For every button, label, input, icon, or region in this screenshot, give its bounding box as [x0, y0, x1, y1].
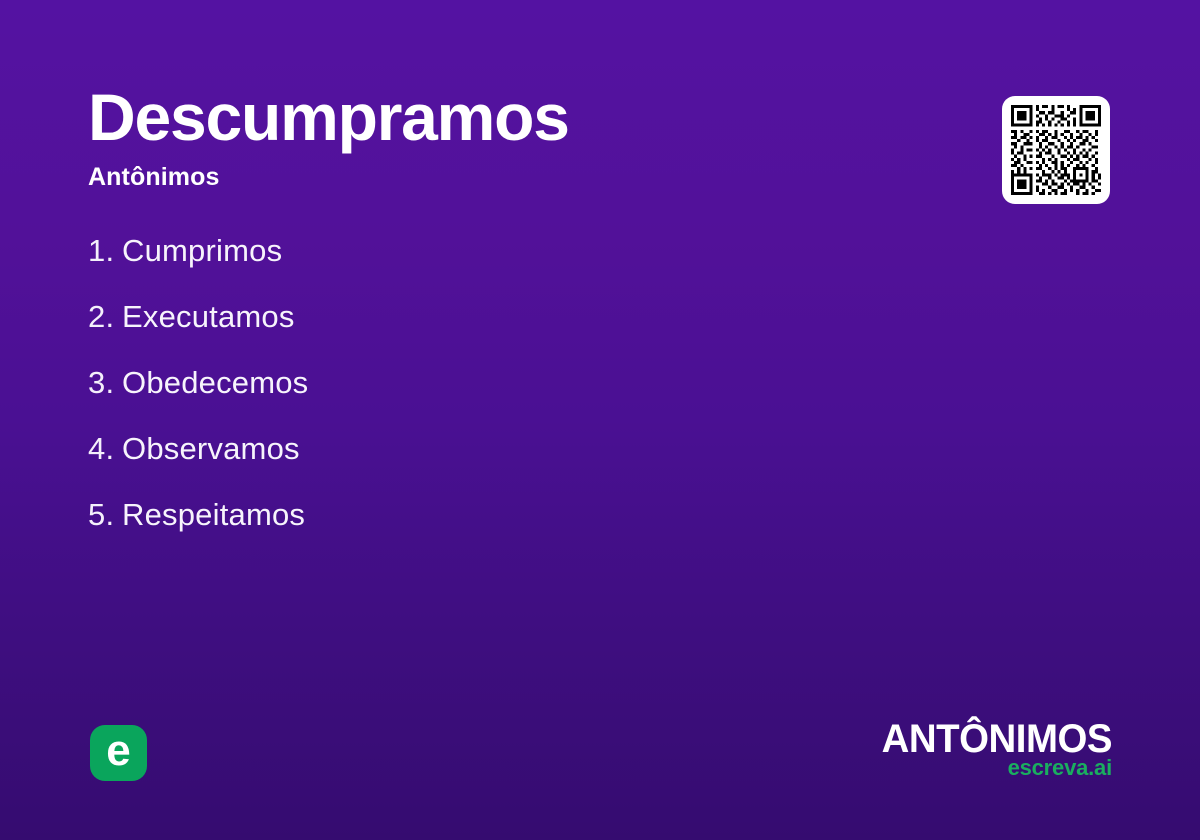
brand-wordmark-title: ANTÔNIMOS — [862, 720, 1112, 759]
list-item-word: Respeitamos — [122, 497, 305, 533]
brand-wordmark: ANTÔNIMOS escreva.ai — [852, 720, 1112, 779]
antonym-list: 1. Cumprimos 2. Executamos 3. Obedecemos… — [88, 233, 888, 563]
escreva-badge-icon: e — [90, 725, 147, 781]
list-item: 5. Respeitamos — [88, 497, 888, 563]
list-item: 1. Cumprimos — [88, 233, 888, 299]
page-subtitle: Antônimos — [88, 164, 948, 192]
list-item-word: Executamos — [122, 299, 295, 335]
headline-block: Descumpramos Antônimos — [88, 84, 948, 192]
page-title: Descumpramos — [88, 84, 948, 150]
list-item: 4. Observamos — [88, 431, 888, 497]
list-item-index: 3. — [88, 365, 122, 401]
antonyms-card: Descumpramos Antônimos — [0, 0, 1200, 840]
list-item-word: Observamos — [122, 431, 300, 467]
list-item-index: 2. — [88, 299, 122, 335]
list-item-index: 5. — [88, 497, 122, 533]
list-item-word: Obedecemos — [122, 365, 308, 401]
qr-code-panel[interactable] — [1002, 96, 1110, 204]
list-item-index: 1. — [88, 233, 122, 269]
list-item-word: Cumprimos — [122, 233, 282, 269]
qr-code-icon — [1011, 105, 1101, 195]
brand-badge-letter: e — [106, 729, 130, 773]
list-item: 3. Obedecemos — [88, 365, 888, 431]
list-item: 2. Executamos — [88, 299, 888, 365]
list-item-index: 4. — [88, 431, 122, 467]
